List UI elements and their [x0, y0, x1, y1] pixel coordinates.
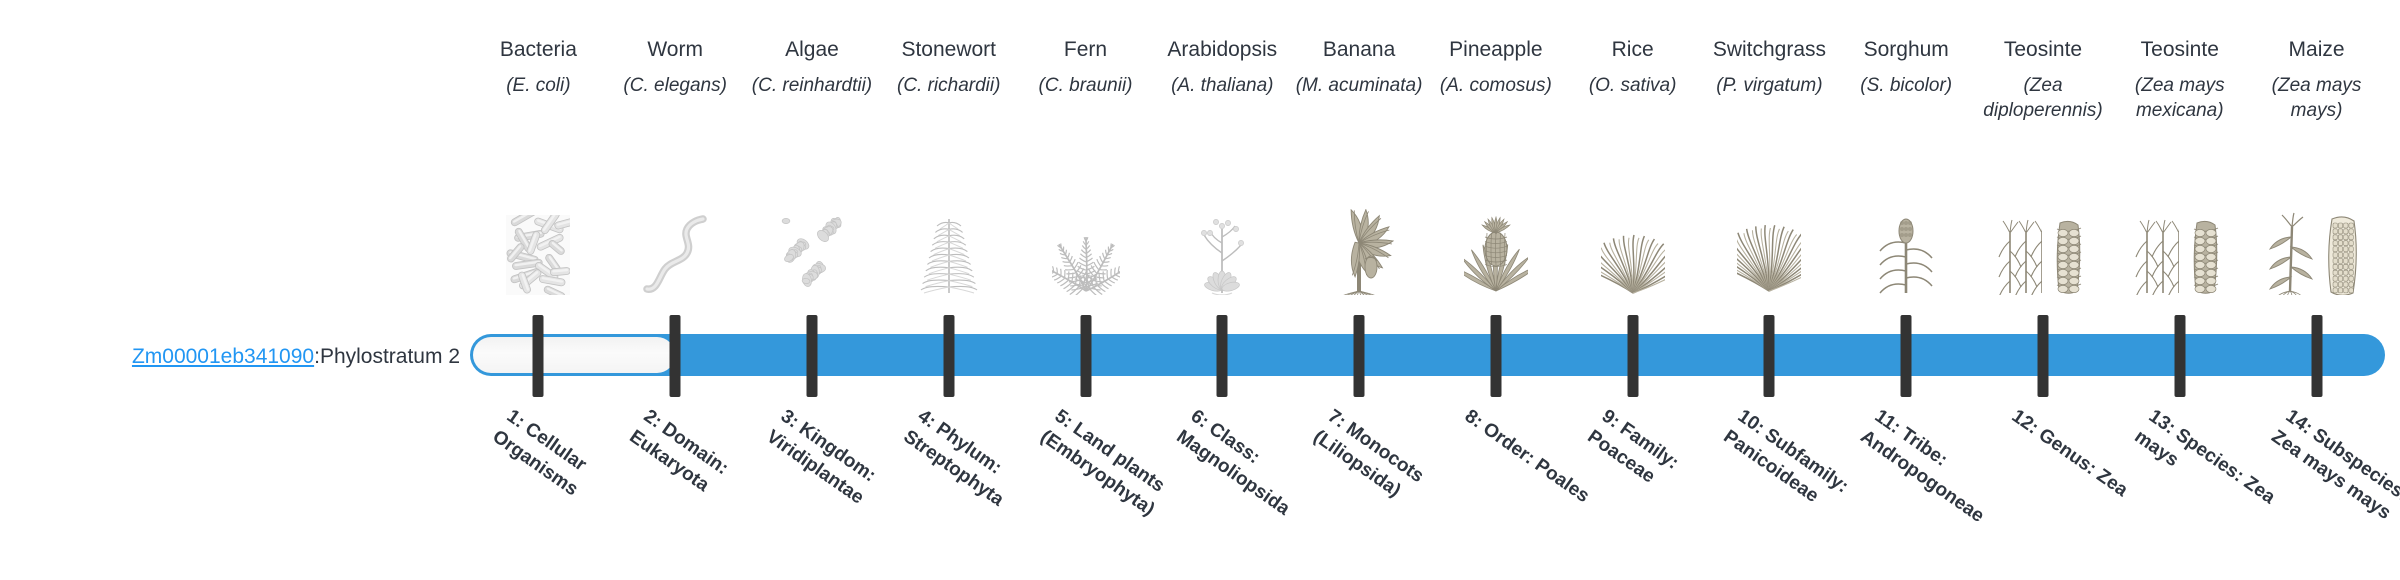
stratum-tick-6	[1217, 315, 1228, 397]
stratum-tick-14	[2311, 315, 2322, 397]
stratum-label-14: 14: Subspecies: Zea mays mays	[2266, 404, 2400, 541]
stratum-tick-1	[533, 315, 544, 397]
stratum-label-8: 8: Order: Poales	[1460, 404, 1612, 521]
stratum-label-2: 2: Domain: Eukaryota	[624, 404, 790, 541]
stratum-rank: Genus:	[2035, 424, 2101, 479]
stratum-tick-5	[1080, 315, 1091, 397]
stratum-tick-2	[670, 315, 681, 397]
stratum-label-group: 1: Cellular Organisms2: Domain: Eukaryot…	[470, 404, 2385, 580]
stratum-tick-7	[1354, 315, 1365, 397]
phylostratigraphy-figure: Zm00001eb341090: Phylostratum 2 Bacteria…	[0, 0, 2400, 580]
stratum-label-4: 4: Phylum: Streptophyta	[898, 404, 1064, 541]
stratum-tick-12	[2038, 315, 2049, 397]
gene-label-row: Zm00001eb341090: Phylostratum 2	[40, 340, 460, 374]
phylostratum-value-label: Phylostratum 2	[320, 345, 460, 369]
stratum-label-7: 7: Monocots (Liliopsida)	[1308, 404, 1474, 541]
stratum-label-10: 10: Subfamily: Panicoideae	[1719, 404, 1885, 541]
stratum-label-6: 6: Class: Magnoliopsida	[1172, 404, 1338, 541]
stratum-label-13: 13: Species: Zea mays	[2129, 404, 2295, 541]
stratum-label-9: 9: Family: Poaceae	[1582, 404, 1748, 541]
stratum-number: 12:	[2008, 406, 2043, 439]
gene-id-link[interactable]: Zm00001eb341090	[132, 345, 314, 369]
stratum-label-3: 3: Kingdom: Viridiplantae	[761, 404, 927, 541]
stratum-label-1: 1: Cellular Organisms	[488, 404, 654, 541]
stratum-name: Poales	[1531, 455, 1593, 507]
stratum-tick-8	[1490, 315, 1501, 397]
stratum-name: Zea	[2093, 465, 2132, 501]
track-area: Bacteria(E. coli)Worm(C. elegans)Algae(C…	[470, 0, 2385, 580]
stratum-tick-11	[1901, 315, 1912, 397]
stratum-label-11: 11: Tribe: Andropogoneae	[1856, 404, 2022, 541]
stratum-label-12: 12: Genus: Zea	[2007, 404, 2159, 521]
stratum-tick-9	[1627, 315, 1638, 397]
stratum-tick-10	[1764, 315, 1775, 397]
stratum-rank: Order:	[1479, 418, 1539, 469]
stratum-label-5: 5: Land plants (Embryophyta)	[1035, 404, 1201, 541]
stratum-tick-13	[2174, 315, 2185, 397]
stratum-rank: Species:	[2171, 424, 2247, 486]
stratum-tick-4	[943, 315, 954, 397]
stratum-tick-3	[806, 315, 817, 397]
